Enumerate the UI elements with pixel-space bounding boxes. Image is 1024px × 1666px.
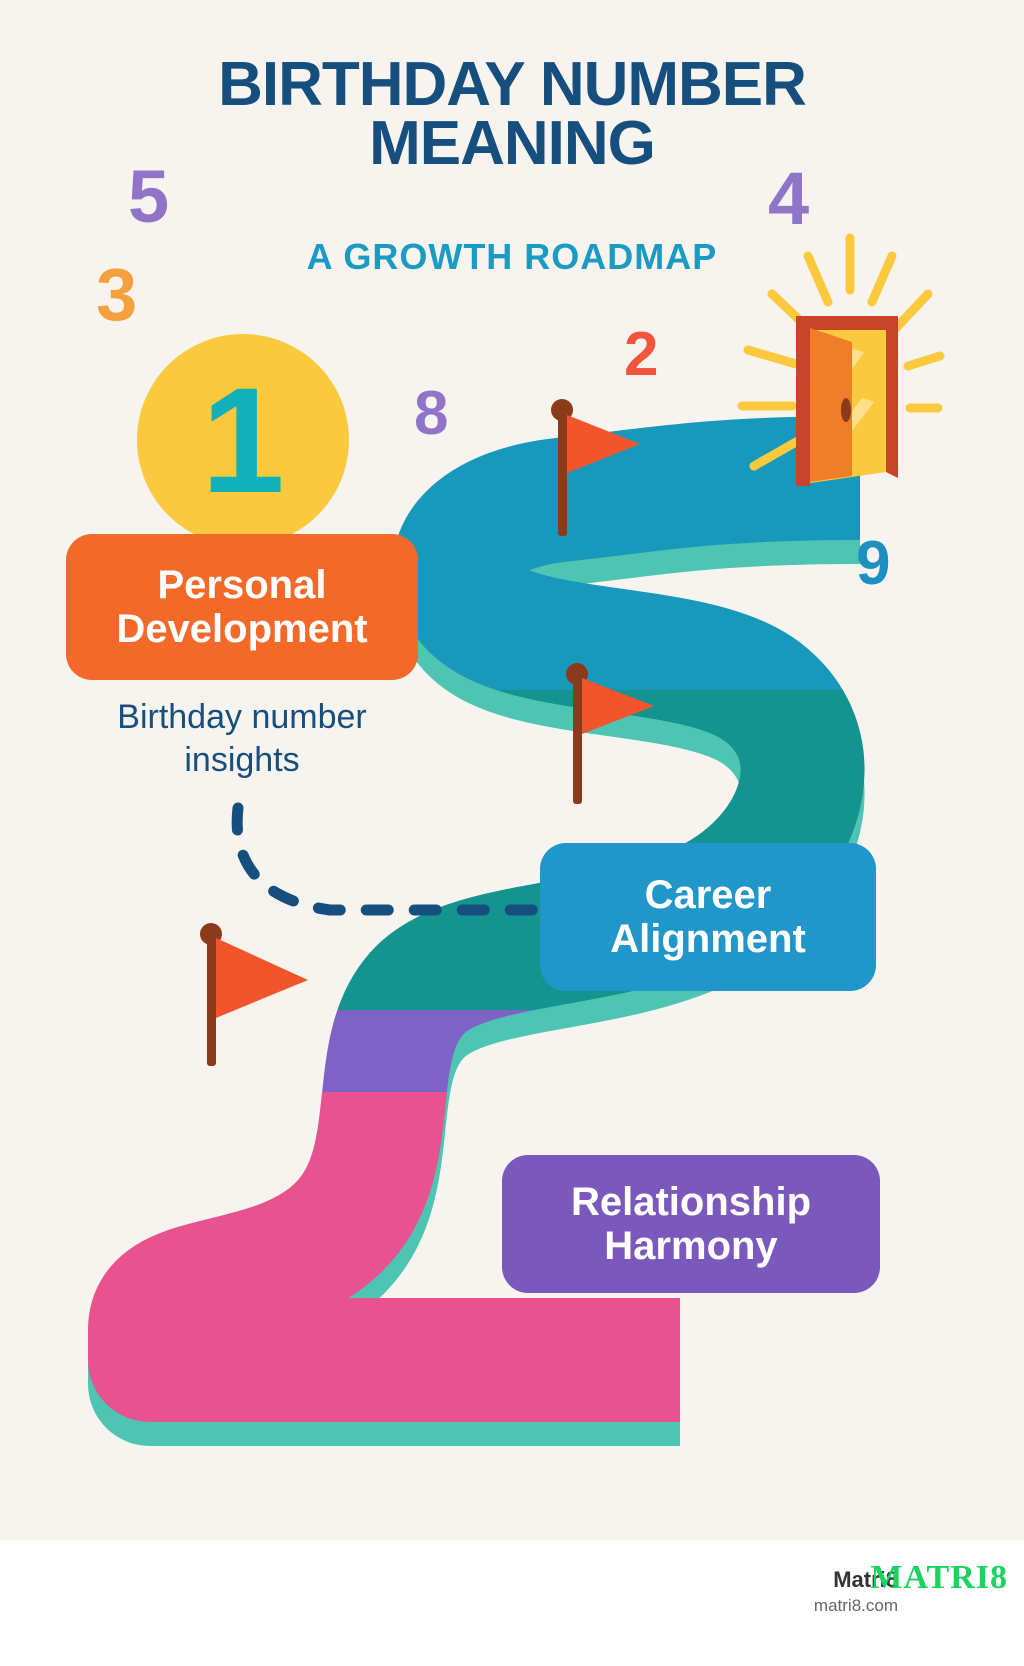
flag-marker-bottom [200, 923, 308, 1066]
door-frame-top [796, 316, 898, 330]
brand-logo: MATRI8 [870, 1558, 1008, 1597]
decor-number-9: 9 [856, 533, 890, 595]
milestone-number-label: 1 [137, 334, 349, 546]
step-badge-relationship-harmony[interactable]: Relationship Harmony [502, 1155, 880, 1293]
step-label-line2: Alignment [610, 917, 806, 961]
step-label-line1: Personal [116, 563, 367, 607]
step-label-line1: Relationship [571, 1180, 811, 1224]
footer-bar: Matri8 matri8.com MATRI8 [0, 1540, 1024, 1666]
brand-url[interactable]: matri8.com [814, 1594, 898, 1619]
dashed-connector [180, 790, 580, 940]
milestone-number-badge: 1 [137, 334, 349, 546]
decor-number-8: 8 [414, 383, 448, 445]
caption-line2: insights [62, 739, 422, 782]
door-frame-left [796, 316, 810, 486]
title-line-2: MEANING [0, 115, 1024, 174]
page-subtitle: A GROWTH ROADMAP [0, 236, 1024, 278]
caption-line1: Birthday number [62, 696, 422, 739]
page-title: BIRTHDAY NUMBER MEANING [0, 56, 1024, 174]
step-badge-personal-development[interactable]: Personal Development [66, 534, 418, 680]
step-label-line2: Development [116, 607, 367, 651]
flag-icon [216, 938, 308, 1018]
door-frame-side [886, 320, 898, 478]
caption-birthday-number-insights: Birthday number insights [62, 696, 422, 781]
infographic-poster: BIRTHDAY NUMBER MEANING A GROWTH ROADMAP… [0, 0, 1024, 1666]
step-badge-career-alignment[interactable]: Career Alignment [540, 843, 876, 991]
decor-number-2: 2 [624, 324, 658, 386]
poster-canvas: BIRTHDAY NUMBER MEANING A GROWTH ROADMAP… [0, 0, 1024, 1540]
step-label-line2: Harmony [571, 1224, 811, 1268]
door-knob-icon [841, 398, 851, 422]
step-label-line1: Career [610, 873, 806, 917]
